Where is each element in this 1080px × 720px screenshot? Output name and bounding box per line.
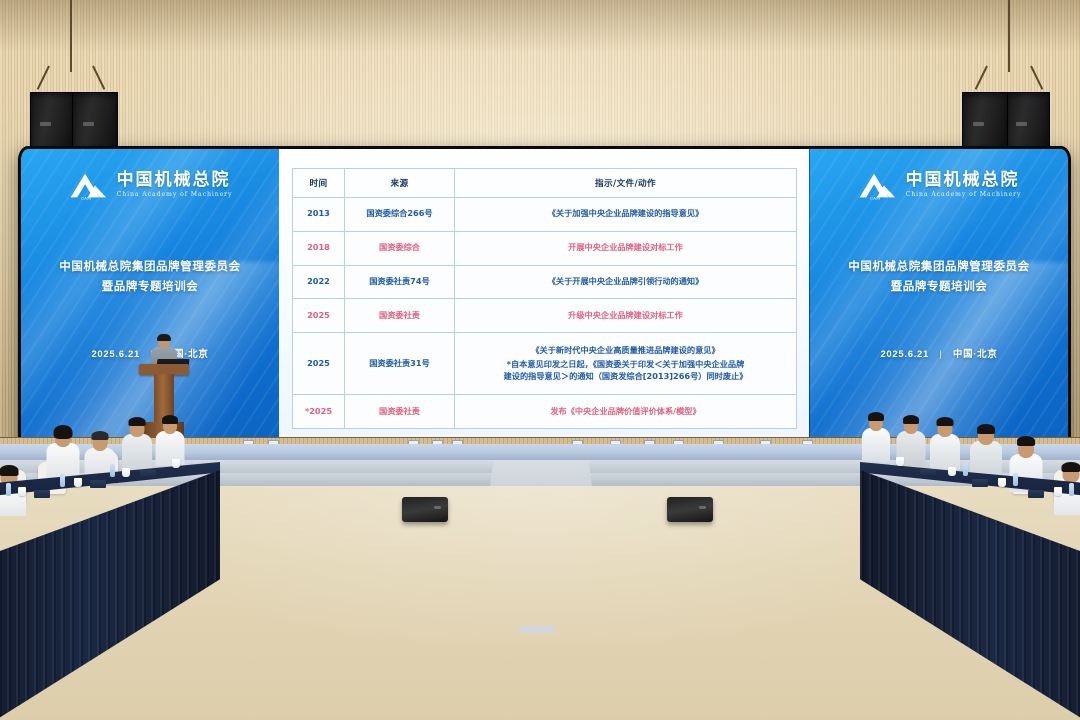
cell-source: 国资委综合: [345, 231, 455, 265]
slide-panel-right: CAM 中国机械总院 China Academy of Machinery 中国…: [809, 149, 1068, 447]
slide-title-line1: 中国机械总院集团品牌管理委员会: [21, 257, 279, 277]
cell-action: 《关于加强中央企业品牌建设的指导意见》: [455, 198, 797, 232]
logo-chinese-name: 中国机械总院: [117, 172, 233, 189]
attendee-figure: [930, 418, 960, 468]
column-header-action: 指示/文件/动作: [455, 169, 797, 198]
cell-time: *2025: [293, 395, 345, 429]
column-header-time: 时间: [293, 169, 345, 198]
name-placard: [972, 479, 988, 487]
mountain-logo-icon: CAM: [68, 171, 110, 200]
slide-title-line1: 中国机械总院集团品牌管理委员会: [810, 257, 1068, 277]
svg-text:CAM: CAM: [81, 195, 91, 200]
attendee-figure: [122, 418, 152, 468]
teacup-icon: [896, 457, 904, 466]
water-bottle-icon: [1069, 483, 1074, 496]
slide-location-value: 中国·北京: [953, 349, 998, 360]
slide-title-left: 中国机械总院集团品牌管理委员会 暨品牌专题培训会: [21, 257, 279, 297]
column-header-source: 来源: [345, 169, 455, 198]
slide-date-value: 2025.6.21: [91, 349, 140, 360]
cell-source: 国资委综合266号: [345, 198, 455, 232]
cell-time: 2013: [293, 198, 345, 232]
water-bottle-icon: [6, 483, 11, 496]
table-row: 2022 国资委社责74号 《关于开展中央企业品牌引领行动的通知》: [293, 265, 797, 299]
table-row: 2025 国资委社责31号 《关于新时代中央企业高质量推进品牌建设的意见》 *自…: [293, 333, 797, 395]
table-header-row: 时间 来源 指示/文件/动作: [293, 169, 797, 198]
cell-time: 2025: [293, 333, 345, 395]
table-row: 2025 国资委社责 升级中央企业品牌建设对标工作: [293, 299, 797, 333]
logo-english-name: China Academy of Machinery: [906, 192, 1022, 198]
attendee-figure: [862, 414, 890, 460]
cell-action: 开展中央企业品牌建设对标工作: [455, 231, 797, 265]
logo-chinese-name: 中国机械总院: [906, 172, 1022, 189]
conference-room-photo: CAM 中国机械总院 China Academy of Machinery 中国…: [0, 0, 1080, 720]
teacup-icon: [948, 467, 956, 476]
slide-panel-center: 时间 来源 指示/文件/动作 2013 国资委综合266号 《关于加强中央企业品…: [279, 149, 810, 447]
teacup-icon: [172, 459, 180, 468]
slide-date-right: 2025.6.21 | 中国·北京: [810, 346, 1068, 360]
water-bottle-icon: [60, 474, 65, 487]
brand-lockup: CAM 中国机械总院 China Academy of Machinery: [810, 171, 1068, 200]
name-placard: [34, 490, 50, 498]
cell-time: 2022: [293, 265, 345, 299]
line-array-speaker-icon: [1006, 92, 1050, 149]
slide-title-line2: 暨品牌专题培训会: [810, 277, 1068, 297]
water-bottle-icon: [110, 464, 115, 477]
slide-title-right: 中国机械总院集团品牌管理委员会 暨品牌专题培训会: [810, 257, 1068, 297]
teacup-icon: [122, 468, 130, 477]
table-row: 2013 国资委综合266号 《关于加强中央企业品牌建设的指导意见》: [293, 198, 797, 232]
attendee-figure: [970, 424, 1002, 476]
name-placard: [90, 480, 106, 488]
slide-date-value: 2025.6.21: [880, 349, 929, 360]
hanging-speaker-rig-right: [938, 0, 1058, 150]
hanging-speaker-rig-left: [22, 0, 142, 150]
line-array-speaker-icon: [72, 92, 118, 149]
stage-monitor-icon: [402, 497, 448, 522]
attendee-figure: [46, 425, 79, 477]
cell-source: 国资委社责: [345, 299, 455, 333]
water-bottle-icon: [1013, 473, 1018, 486]
name-placard: [920, 469, 936, 477]
cell-action-heading: 《关于新时代中央企业高质量推进品牌建设的意见》: [457, 345, 794, 357]
stage-monitor-icon: [667, 497, 713, 522]
svg-text:CAM: CAM: [870, 195, 880, 200]
slide-date-separator: |: [939, 349, 942, 360]
cell-source: 国资委社责31号: [345, 333, 455, 395]
table-row: 2018 国资委综合 开展中央企业品牌建设对标工作: [293, 231, 797, 265]
slide-title-line2: 暨品牌专题培训会: [21, 277, 279, 297]
cell-source: 国资委社责: [345, 395, 455, 429]
cell-action-note-line2: 建设的指导意见＞的通知（国资发综合[2013]266号）同时废止》: [504, 371, 748, 381]
water-bottle-icon: [963, 463, 968, 476]
slide-date-left: 2025.6.21 | 中国·北京: [21, 346, 279, 360]
line-array-speaker-icon: [30, 92, 74, 149]
table-row: *2025 国资委社责 发布《中央企业品牌价值评价体系/模型》: [293, 395, 797, 429]
name-placard: [1028, 490, 1044, 498]
name-placard: [140, 470, 156, 478]
brand-lockup: CAM 中国机械总院 China Academy of Machinery: [21, 171, 279, 200]
brand-policy-timeline-table: 时间 来源 指示/文件/动作 2013 国资委综合266号 《关于加强中央企业品…: [292, 168, 797, 429]
teacup-icon: [18, 487, 26, 496]
mountain-logo-icon: CAM: [857, 171, 899, 200]
logo-english-name: China Academy of Machinery: [117, 192, 233, 198]
teacup-icon: [998, 478, 1006, 487]
cell-time: 2025: [293, 299, 345, 333]
cell-time: 2018: [293, 231, 345, 265]
teacup-icon: [1054, 487, 1062, 496]
teacup-icon: [74, 478, 82, 487]
wall-top-shadow: [0, 0, 1080, 52]
floor-marker: [519, 626, 555, 633]
attendee-figure: [155, 416, 184, 464]
cell-source: 国资委社责74号: [345, 265, 455, 299]
line-array-speaker-icon: [962, 92, 1008, 149]
cell-action-note-line1: *自本意见印发之日起，《国资委关于印发＜关于加强中央企业品牌: [507, 359, 745, 369]
